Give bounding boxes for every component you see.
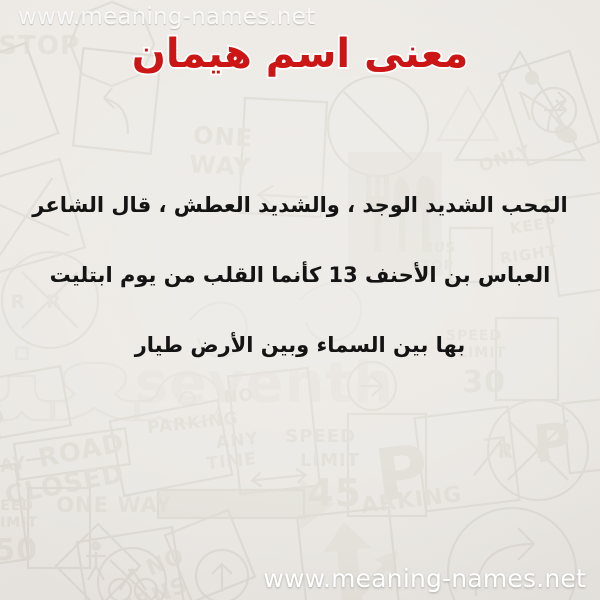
bg-sign-speed-65: 65 [0, 366, 71, 438]
svg-text:ARKING: ARKING [360, 482, 464, 519]
svg-text:R: R [536, 439, 552, 463]
bg-sign-no-bicycle [77, 527, 187, 600]
bg-sign-prohibition-circle [328, 76, 428, 176]
svg-text:PARKING: PARKING [146, 409, 239, 438]
bg-sign-one-way-small: ONE WAY [0, 428, 130, 487]
svg-text:SPEED: SPEED [0, 498, 34, 514]
bg-sign-yield-triangle-top [438, 88, 498, 140]
svg-text:P: P [531, 412, 576, 476]
bg-sign-no-turns: NO TURNS [100, 510, 255, 600]
bg-sign-railroad-crossing: R R [488, 400, 588, 500]
bg-sign-road-closed: ROAD CLOSED [2, 400, 232, 511]
svg-text:seventh: seventh [135, 351, 394, 416]
svg-text:R: R [498, 439, 514, 463]
bg-sign-parking-right-edge: P [531, 397, 600, 476]
bg-text-seventh-street: seventh street [135, 351, 600, 429]
bg-sign-speed-limit-45: SPEED LIMIT 45 [285, 414, 426, 516]
bg-sign-arrow-circle-midright [532, 88, 576, 132]
svg-text:ANY: ANY [215, 429, 260, 453]
name-meaning-image-card: RIGHT ONE WAY ONLY [0, 0, 600, 600]
watermark-top: www.meaning-names.net [18, 4, 315, 30]
meaning-line-3: بها بين السماء وبين الأرض طيار [0, 330, 600, 360]
svg-text:LIMIT: LIMIT [300, 450, 360, 471]
svg-text:LIMIT: LIMIT [0, 515, 38, 531]
bg-sign-speed-limit-50: SPEED LIMIT 50 [0, 488, 90, 568]
name-meaning-text: المحب الشديد الوجد ، والشديد العطش ، قال… [0, 190, 600, 360]
page-title: معنى اسم هيمان [0, 29, 600, 79]
meaning-line-2: العباس بن الأحنف 13 كأنما القلب من يوم ا… [0, 260, 600, 290]
svg-text:ONE: ONE [192, 121, 253, 152]
svg-text:ONE WAY: ONE WAY [0, 452, 28, 487]
svg-text:SPEED: SPEED [285, 426, 356, 447]
svg-text:ROAD: ROAD [36, 428, 127, 474]
svg-text:ONLY: ONLY [477, 141, 534, 176]
svg-text:65: 65 [0, 396, 9, 438]
svg-text:TURNS: TURNS [100, 573, 192, 600]
bg-sign-parking-arrow: P ARKING [360, 407, 520, 520]
svg-text:ONE WAY: ONE WAY [56, 493, 172, 517]
svg-text:NO: NO [223, 385, 256, 408]
svg-text:WAY: WAY [189, 150, 252, 181]
bg-sign-arrow-circle-bottom [196, 550, 248, 600]
bg-sign-left-edge-partial: T SS [0, 464, 28, 568]
watermark-bottom: www.meaning-names.net [263, 564, 586, 593]
svg-text:NO: NO [143, 544, 189, 582]
svg-text:50: 50 [0, 533, 38, 568]
svg-text:P: P [371, 428, 435, 518]
bg-sign-one-way-arrow-bottom: ONE WAY [56, 478, 334, 530]
svg-text:CLOSED: CLOSED [2, 459, 126, 512]
svg-text:TIME: TIME [206, 449, 258, 474]
meaning-line-1: المحب الشديد الوجد ، والشديد العطش ، قال… [0, 190, 600, 220]
svg-text:45: 45 [307, 471, 362, 515]
svg-text:30: 30 [462, 365, 506, 400]
bg-sign-no-parking: NO PARKING ANY TIME [146, 368, 320, 494]
bg-sign-pedestrian-diamond [56, 524, 140, 600]
